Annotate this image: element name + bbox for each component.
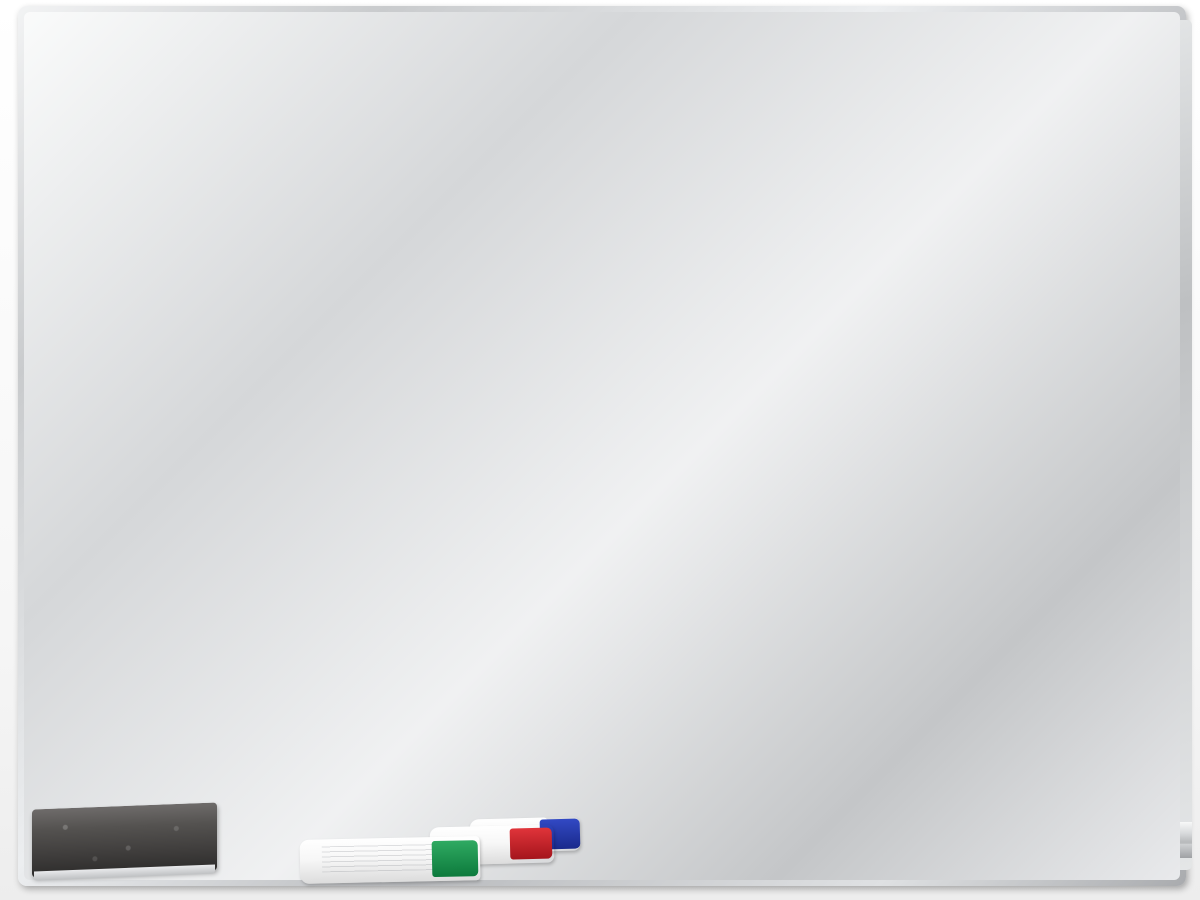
cell-class: 3б xyxy=(198,430,348,469)
cell-class: 8в,10а xyxy=(696,625,921,664)
cell-place: 24 xyxy=(561,397,696,436)
cell-class: 11а xyxy=(696,157,921,196)
cell-class: 4г xyxy=(696,430,921,469)
cell-class: 2б xyxy=(198,352,348,391)
cell-class: 8г xyxy=(696,742,921,781)
cell-quality: 60,7 xyxy=(348,742,562,781)
cell-place: 15 xyxy=(91,709,198,748)
cell-class: 11б xyxy=(696,586,921,625)
cell-class: 10б xyxy=(696,820,921,859)
cell-class: 8б xyxy=(696,547,921,586)
cell-quality: 81,5 xyxy=(348,313,562,352)
cell-quality: 22,7 xyxy=(921,742,1172,781)
cell-place: 28 xyxy=(561,553,696,592)
cell-quality: 39,3 xyxy=(921,469,1172,508)
table-row: 348а19,2 xyxy=(561,781,1172,820)
cell-class: 8а xyxy=(696,781,921,820)
cell-place: 1 xyxy=(91,163,198,202)
page-title: Рейтинг классов 2 четверти 2021-2022 уче… xyxy=(65,42,1178,78)
table-row: 52в81,5 xyxy=(91,313,562,352)
table-row: 42а84 xyxy=(91,274,562,313)
table-row: 12г100,0 xyxy=(91,157,562,196)
table-row: 73д76,9 xyxy=(91,391,562,430)
cell-class: 2в xyxy=(198,313,348,352)
marker-tray-lip xyxy=(48,844,1192,858)
cell-place: 27 xyxy=(561,514,696,553)
table-row: 92е75,0 xyxy=(91,469,562,508)
cell-class: 5д xyxy=(696,274,921,313)
marker-label xyxy=(322,844,443,873)
cell-class: 9а xyxy=(696,352,921,391)
cell-place: 23 xyxy=(561,358,696,397)
cell-quality: 32,0 xyxy=(921,625,1172,664)
cell-quality: 31,0 xyxy=(921,664,1172,703)
column-header-quality: качество xyxy=(921,117,1172,157)
cell-class: 2г xyxy=(198,157,348,196)
cell-place: 3 xyxy=(91,241,198,280)
cell-place: 18 xyxy=(561,163,696,202)
cell-quality: 44,0 xyxy=(921,274,1172,313)
cell-quality: 25,0 xyxy=(921,703,1172,742)
cell-quality: 41,7 xyxy=(921,430,1172,469)
cell-place: 25 xyxy=(561,436,696,475)
cell-class: 5в xyxy=(198,235,348,274)
cell-place: 13 xyxy=(91,631,198,670)
cell-place: 19 xyxy=(561,202,696,241)
table-row: 205а50,0 xyxy=(561,235,1172,274)
cell-quality: 75,0 xyxy=(348,469,562,508)
cell-quality: 84 xyxy=(348,274,562,313)
cell-quality: 35,7 xyxy=(921,508,1172,547)
column-header-place: место xyxy=(561,117,696,157)
cell-quality: 51,7 xyxy=(921,196,1172,235)
ranking-table-right: место класс качество 1811а52,0196г51,720… xyxy=(560,116,1172,859)
cell-quality: 16,7 xyxy=(921,820,1172,859)
cell-place: 4 xyxy=(91,280,198,319)
table-body-left: 12г100,023г92,335в86,742а8452в81,562б78,… xyxy=(91,157,562,859)
cell-quality: 60,0 xyxy=(348,781,562,820)
cell-place: 10 xyxy=(91,514,198,553)
cell-place: 14 xyxy=(91,670,198,709)
cell-quality: 100,0 xyxy=(348,157,562,196)
table-row: 254г41,7 xyxy=(561,430,1172,469)
table-row: 134д63,6 xyxy=(91,625,562,664)
cell-place: 30 xyxy=(561,670,696,709)
table-row: 83б76,7 xyxy=(91,430,562,469)
cell-quality: 73,3 xyxy=(348,547,562,586)
cell-place xyxy=(561,826,696,865)
cell-place: 22 xyxy=(561,319,696,358)
table-header-row: место класс качество xyxy=(561,117,1172,157)
cell-quality: 73,9 xyxy=(348,508,562,547)
cell-class: 6г xyxy=(696,196,921,235)
cell-class: 6в xyxy=(696,508,921,547)
cell-class: 2е xyxy=(198,469,348,508)
cell-place: 6 xyxy=(91,358,198,397)
cell-place: 26 xyxy=(561,475,696,514)
cell-quality: 78,6 xyxy=(348,352,562,391)
table-row: 288б35,7 xyxy=(561,547,1172,586)
marker-tray xyxy=(48,822,1192,850)
cell-place: 33 xyxy=(561,748,696,787)
cell-class: 9в xyxy=(696,469,921,508)
cell-quality: 92,3 xyxy=(348,196,562,235)
table-row: 329б25,0 xyxy=(561,703,1172,742)
cell-class: 7б,7в xyxy=(696,664,921,703)
cell-quality: 76,9 xyxy=(348,391,562,430)
table-row: 276в35,7 xyxy=(561,508,1172,547)
table-row: 153в61,5 xyxy=(91,703,562,742)
cell-place: 20 xyxy=(561,241,696,280)
cell-place: 30 xyxy=(561,631,696,670)
table-row: 308в,10а32,0 xyxy=(561,625,1172,664)
cell-quality: 42,9 xyxy=(921,352,1172,391)
cell-quality: 62,5 xyxy=(348,664,562,703)
cell-quality: 33,3 xyxy=(921,586,1172,625)
column-header-quality: качество xyxy=(348,117,562,157)
cell-quality: 70,0 xyxy=(348,586,562,625)
cell-place: 11 xyxy=(91,553,198,592)
cell-class: 5а xyxy=(696,235,921,274)
cell-class: 4б xyxy=(198,508,348,547)
table-row: 239а42,9 xyxy=(561,352,1172,391)
cell-class: 4д xyxy=(198,625,348,664)
cell-place: 34 xyxy=(561,787,696,826)
table-row: 166б60,7 xyxy=(91,742,562,781)
cell-quality: 50,0 xyxy=(921,235,1172,274)
cell-class: 3а,5г xyxy=(198,781,348,820)
table-row: 338г22,7 xyxy=(561,742,1172,781)
cell-class: 3в xyxy=(198,703,348,742)
column-header-place: место xyxy=(91,117,198,157)
table-row: 244в42,3 xyxy=(561,391,1172,430)
table-row: 62б78,6 xyxy=(91,352,562,391)
table-row: 23г92,3 xyxy=(91,196,562,235)
whiteboard-surface xyxy=(65,30,1178,820)
table-row: 115б73,3 xyxy=(91,547,562,586)
cell-place: 7 xyxy=(91,397,198,436)
cell-class: 7а xyxy=(696,313,921,352)
cell-place: 29 xyxy=(561,592,696,631)
cell-class: 5б xyxy=(198,547,348,586)
whiteboard-frame: Рейтинг классов 2 четверти 2021-2022 уче… xyxy=(18,6,1186,886)
green-marker xyxy=(300,836,481,884)
cell-quality: 61,5 xyxy=(348,703,562,742)
cell-class: 3г xyxy=(198,196,348,235)
cell-place: 8 xyxy=(91,436,198,475)
cell-quality: 43,3 xyxy=(921,313,1172,352)
table-row: 35в86,7 xyxy=(91,235,562,274)
table-row: 2911б33,3 xyxy=(561,586,1172,625)
table-row: 215д44,0 xyxy=(561,274,1172,313)
cell-class: 2а xyxy=(198,274,348,313)
cell-place: 32 xyxy=(561,709,696,748)
cell-class: 9б xyxy=(696,703,921,742)
cell-place: 12 xyxy=(91,592,198,631)
cell-quality: 63,6 xyxy=(348,625,562,664)
table-row: 307б,7в31,0 xyxy=(561,664,1172,703)
cell-class: 3д xyxy=(198,391,348,430)
cell-class: 2д xyxy=(198,586,348,625)
column-header-class: класс xyxy=(696,117,921,157)
table-row: 227а43,3 xyxy=(561,313,1172,352)
cell-class: 6б xyxy=(198,742,348,781)
table-row: 104б73,9 xyxy=(91,508,562,547)
cell-quality: 35,7 xyxy=(921,547,1172,586)
cell-class: 4в xyxy=(696,391,921,430)
cell-quality: 42,3 xyxy=(921,391,1172,430)
table-body-right: 1811а52,0196г51,7205а50,0215д44,0227а43,… xyxy=(561,157,1172,859)
cell-place: 16 xyxy=(91,748,198,787)
table-row: 10б16,7 xyxy=(561,820,1172,859)
cell-place: 2 xyxy=(91,202,198,241)
table-row: 1811а52,0 xyxy=(561,157,1172,196)
cell-place: 5 xyxy=(91,319,198,358)
table-row: 196г51,7 xyxy=(561,196,1172,235)
cell-quality: 52,0 xyxy=(921,157,1172,196)
column-header-class: класс xyxy=(198,117,348,157)
whiteboard-bevel xyxy=(48,20,1192,870)
cell-quality: 86,7 xyxy=(348,235,562,274)
table-row: 269в39,3 xyxy=(561,469,1172,508)
screenshot-root: Рейтинг классов 2 четверти 2021-2022 уче… xyxy=(0,0,1200,900)
cell-place: 9 xyxy=(91,475,198,514)
cell-quality: 19,2 xyxy=(921,781,1172,820)
ranking-table-left: место класс качество 12г100,023г92,335в8… xyxy=(90,116,562,859)
cell-class: 4а xyxy=(198,664,348,703)
table-row: 144а62,5 xyxy=(91,664,562,703)
cell-quality: 76,7 xyxy=(348,430,562,469)
table-header-row: место класс качество xyxy=(91,117,562,157)
table-row: 122д70,0 xyxy=(91,586,562,625)
cell-place: 21 xyxy=(561,280,696,319)
